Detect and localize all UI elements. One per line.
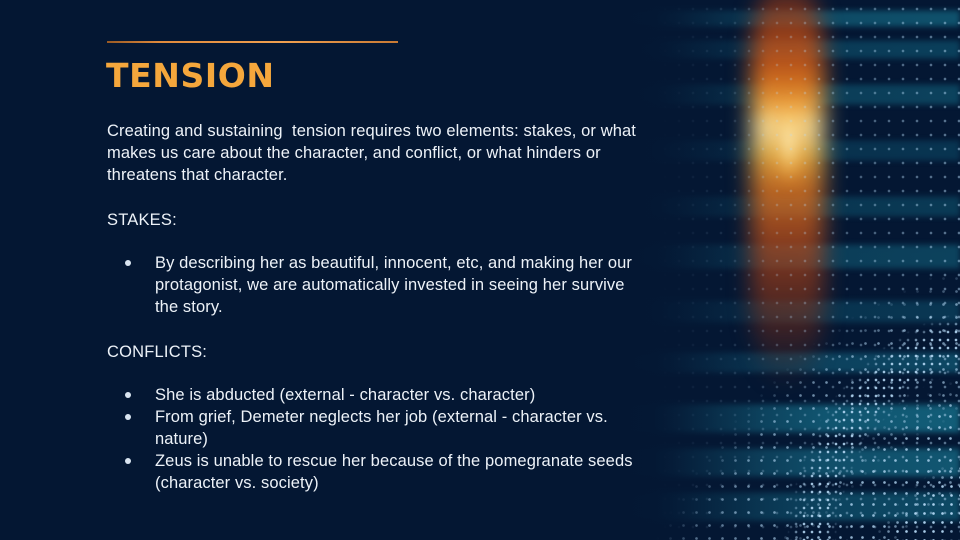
stakes-bullet-list: By describing her as beautiful, innocent… (107, 252, 647, 318)
section-label-stakes: STAKES: (107, 209, 177, 231)
list-item: By describing her as beautiful, innocent… (107, 252, 647, 318)
slide: TENSION Creating and sustaining tension … (0, 0, 960, 540)
list-item: She is abducted (external - character vs… (107, 384, 647, 406)
decorative-artwork (600, 0, 960, 540)
intro-paragraph: Creating and sustaining tension requires… (107, 120, 637, 186)
conflicts-bullet-list: She is abducted (external - character vs… (107, 384, 647, 494)
artwork-edge-fade (600, 0, 960, 540)
list-item: From grief, Demeter neglects her job (ex… (107, 406, 647, 450)
title-rule (107, 41, 398, 43)
slide-content: TENSION Creating and sustaining tension … (107, 0, 647, 540)
list-item: Zeus is unable to rescue her because of … (107, 450, 647, 494)
section-label-conflicts: CONFLICTS: (107, 341, 207, 363)
page-title: TENSION (106, 56, 275, 95)
